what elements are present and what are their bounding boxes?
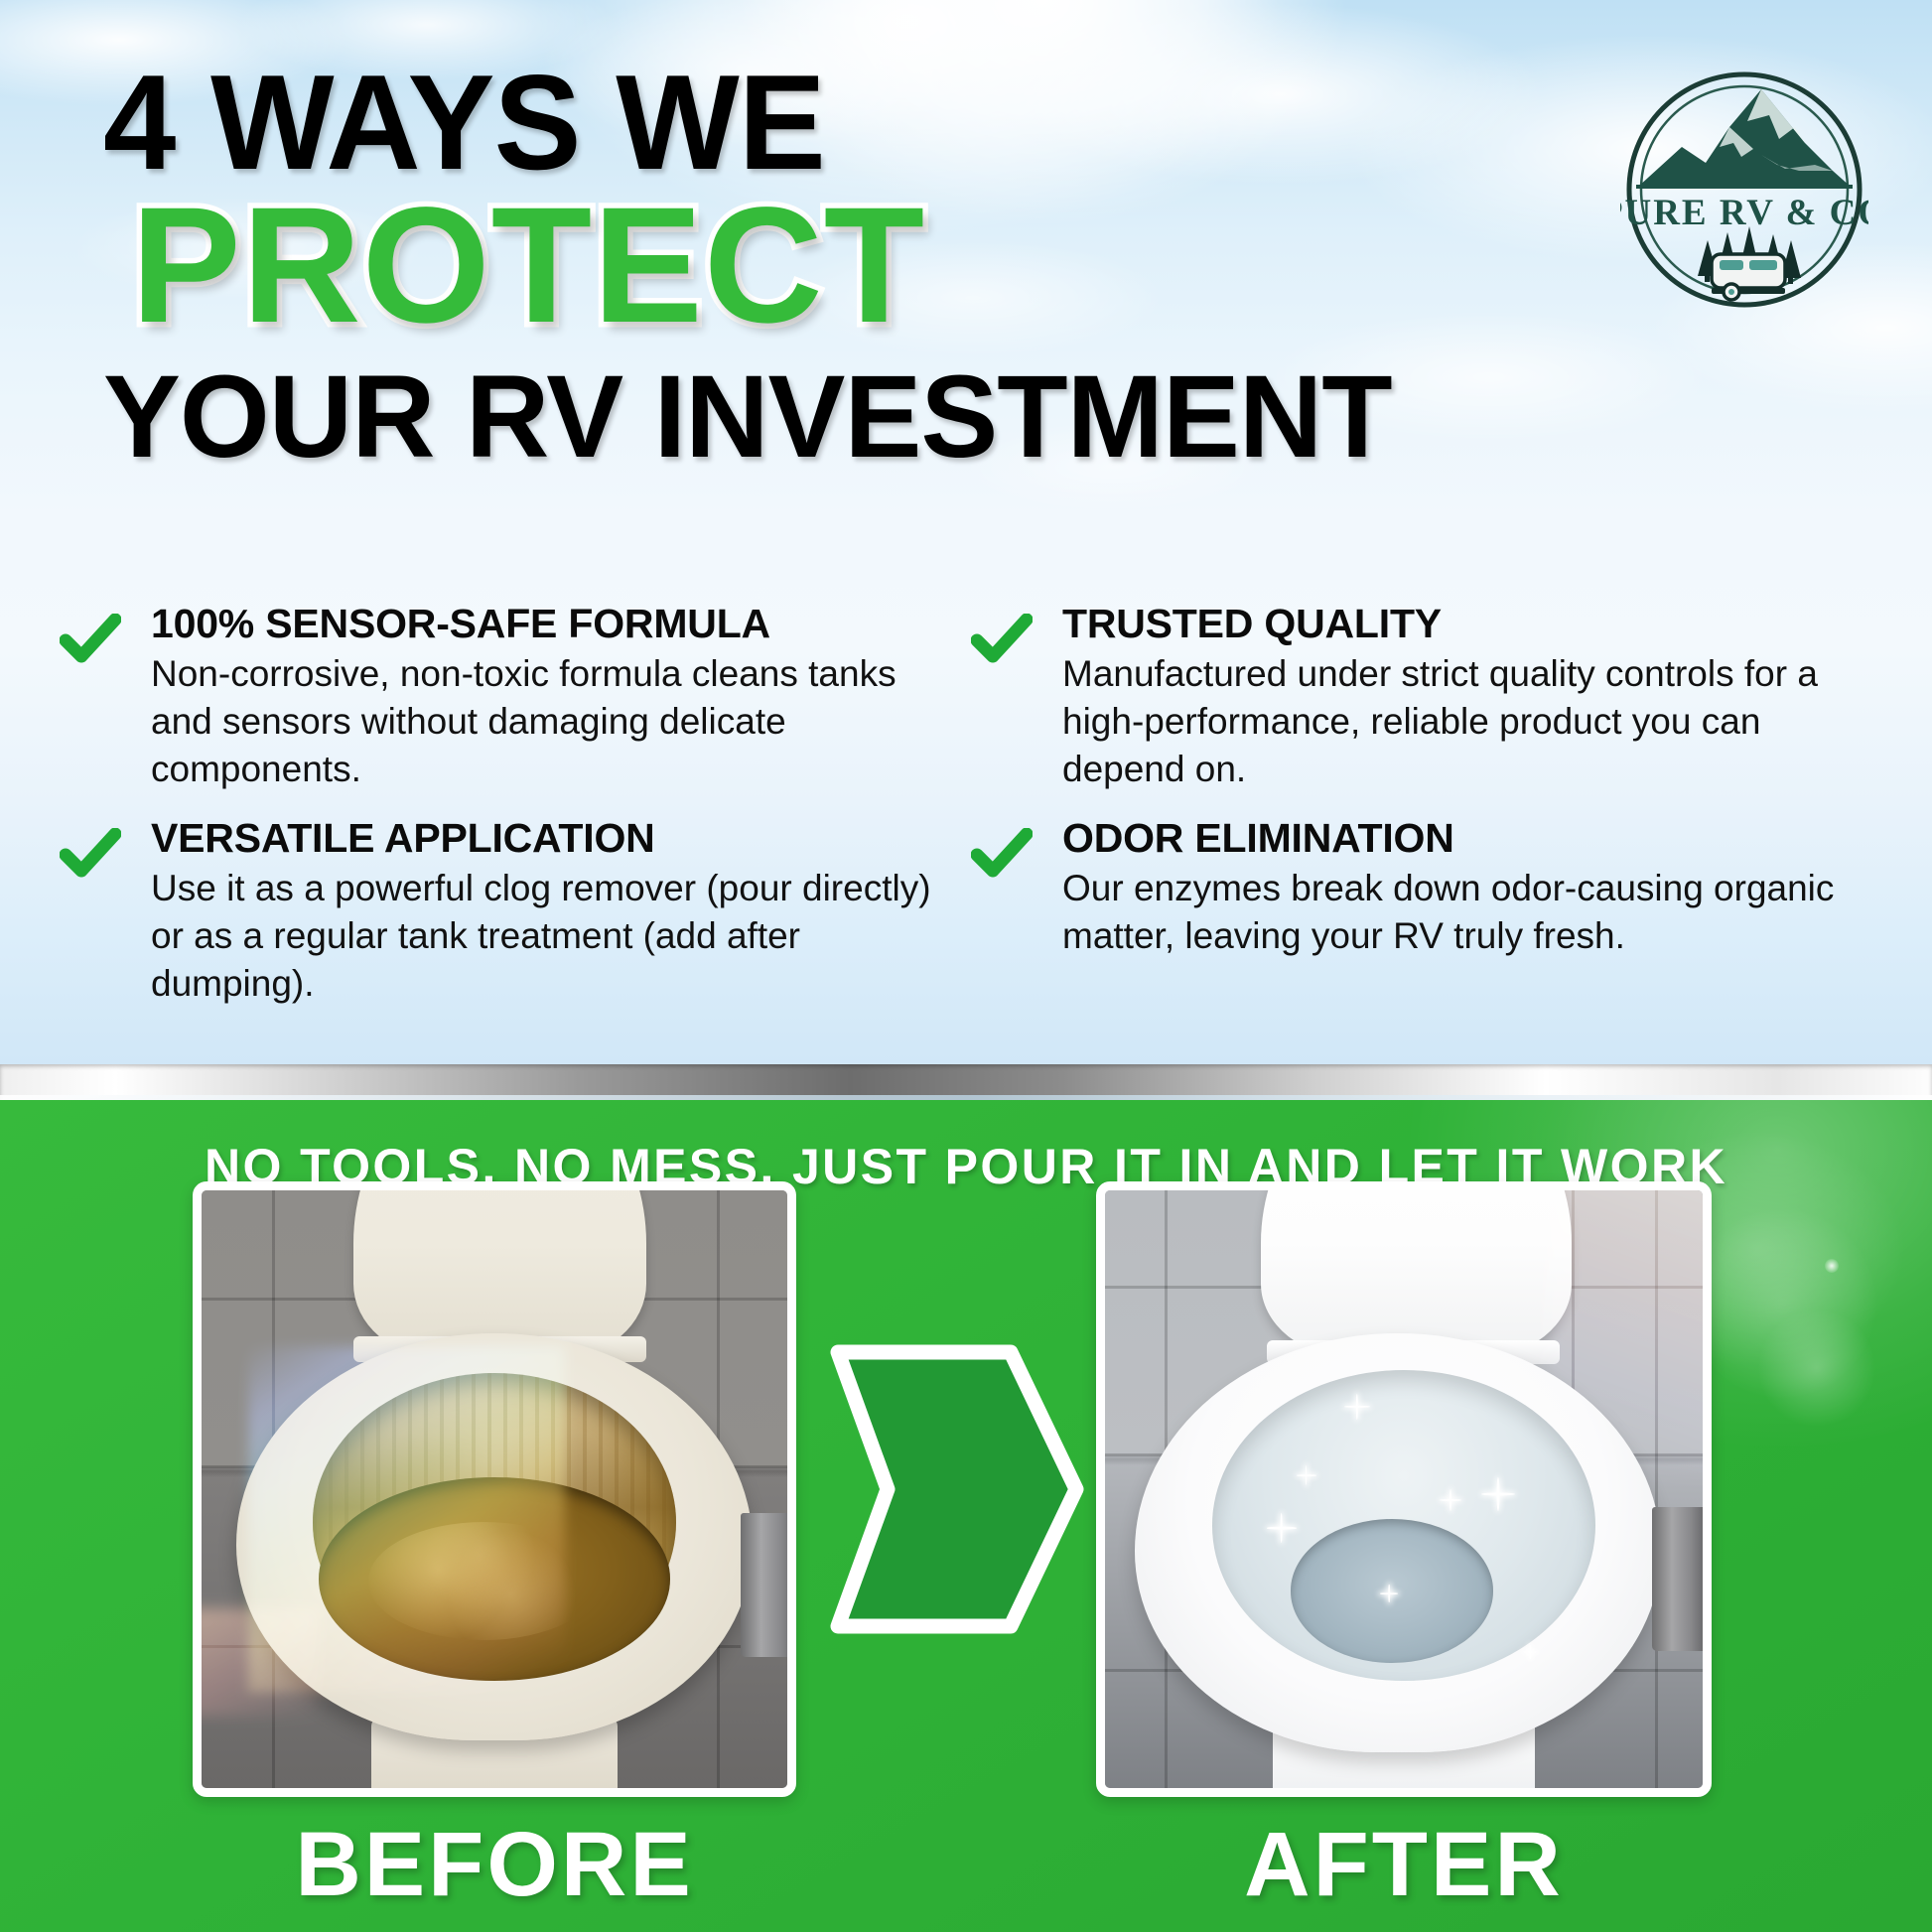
headline-line-3: YOUR RV INVESTMENT	[103, 358, 1578, 476]
feature-item-sensor-safe: 100% SENSOR-SAFE FORMULA Non-corrosive, …	[60, 602, 971, 794]
lens-flare-dot	[1825, 1259, 1839, 1273]
before-label: BEFORE	[193, 1813, 796, 1917]
feature-body: Non-corrosive, non-toxic formula cleans …	[151, 650, 939, 793]
before-photo	[193, 1181, 796, 1797]
feature-title: ODOR ELIMINATION	[1062, 816, 1851, 860]
rainbow-lens-flare	[1547, 1181, 1712, 1477]
lens-flare-ring	[1688, 1209, 1876, 1398]
headline-line-1: 4 WAYS WE	[103, 56, 1548, 190]
logo-wordmark: PURE RV & CO	[1620, 193, 1868, 233]
feature-body: Use it as a powerful clog remover (pour …	[151, 865, 939, 1008]
mountain-rv-badge-logo: PURE RV & CO	[1620, 66, 1868, 314]
feature-body: Manufactured under strict quality contro…	[1062, 650, 1851, 793]
check-icon	[60, 602, 151, 665]
check-icon	[971, 602, 1062, 665]
feature-title: VERSATILE APPLICATION	[151, 816, 939, 860]
feature-item-trusted-quality: TRUSTED QUALITY Manufactured under stric…	[971, 602, 1882, 794]
feature-item-versatile-application: VERSATILE APPLICATION Use it as a powerf…	[60, 816, 971, 1009]
after-photo	[1096, 1181, 1712, 1797]
feature-grid: 100% SENSOR-SAFE FORMULA Non-corrosive, …	[60, 602, 1882, 1008]
waste-bin	[1652, 1507, 1709, 1650]
feature-title: 100% SENSOR-SAFE FORMULA	[151, 602, 939, 645]
infographic-poster: 4 WAYS WE PROTECT YOUR RV INVESTMENT PUR…	[0, 0, 1932, 1932]
headline-line-2-protect: PROTECT	[131, 184, 1592, 348]
after-label: AFTER	[1096, 1813, 1712, 1917]
waste-bin	[741, 1513, 796, 1656]
check-icon	[971, 816, 1062, 880]
check-icon	[60, 816, 151, 880]
lens-flare-small	[1757, 1309, 1876, 1428]
clean-water	[1291, 1519, 1494, 1662]
feature-item-odor-elimination: ODOR ELIMINATION Our enzymes break down …	[971, 816, 1882, 1009]
chevron-right-arrow	[816, 1330, 1098, 1648]
metallic-divider	[0, 1064, 1932, 1100]
feature-body: Our enzymes break down odor-causing orga…	[1062, 865, 1851, 960]
dirty-water	[319, 1477, 670, 1681]
toilet-lid-dirty	[353, 1181, 646, 1358]
headline-block: 4 WAYS WE PROTECT YOUR RV INVESTMENT	[103, 56, 1592, 476]
feature-title: TRUSTED QUALITY	[1062, 602, 1851, 645]
rainbow-lens-flare-secondary	[193, 1608, 319, 1716]
toilet-lid-clean	[1261, 1181, 1572, 1358]
